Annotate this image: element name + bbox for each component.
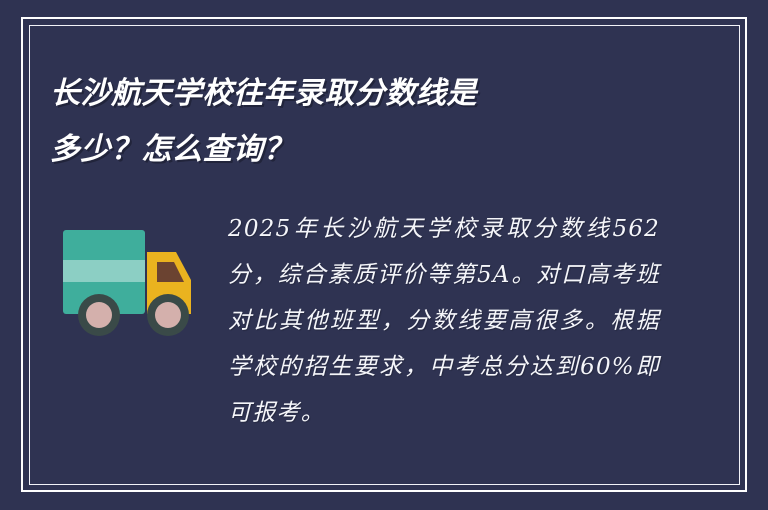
- body-text: 2025年长沙航天学校录取分数线562分，综合素质评价等第5A。对口高考班对比其…: [228, 206, 660, 436]
- info-card: 长沙航天学校往年录取分数线是 多少？怎么查询？ 2025年长沙航天学校录取分数线…: [0, 0, 768, 510]
- truck-rear-hub: [86, 302, 112, 328]
- delivery-truck-icon: [58, 222, 208, 340]
- page-title: 长沙航天学校往年录取分数线是 多少？怎么查询？: [50, 66, 670, 178]
- truck-front-hub: [155, 302, 181, 328]
- page-title-line-1: 长沙航天学校往年录取分数线是: [50, 66, 670, 122]
- truck-cargo-stripe: [63, 260, 145, 282]
- delivery-truck-illustration: [58, 222, 208, 340]
- page-title-line-2: 多少？怎么查询？: [50, 122, 670, 178]
